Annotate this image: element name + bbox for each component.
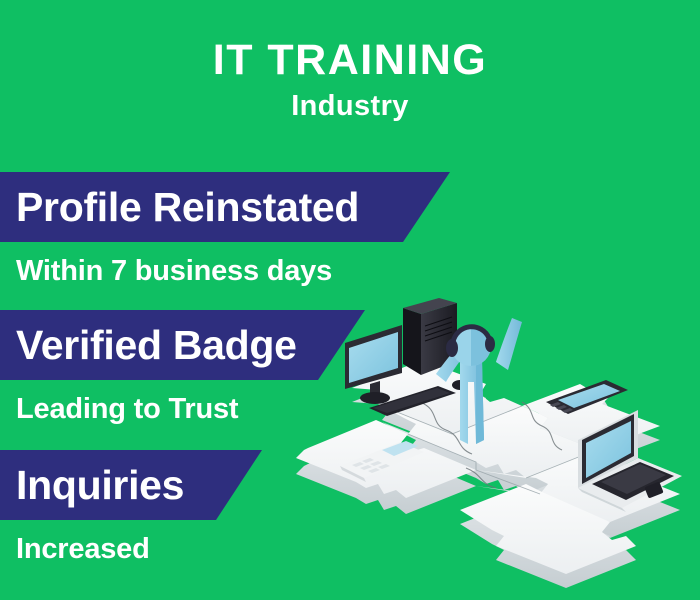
banner-label: Verified Badge xyxy=(16,325,297,366)
highlight-block-inquiries: Inquiries Increased xyxy=(0,450,262,564)
banner-label: Profile Reinstated xyxy=(16,187,359,228)
highlight-block-profile-reinstated: Profile Reinstated Within 7 business day… xyxy=(0,172,450,286)
banner-label: Inquiries xyxy=(16,465,184,506)
banner-inquiries: Inquiries xyxy=(0,450,262,520)
banner-caption: Within 7 business days xyxy=(0,242,450,286)
banner-profile-reinstated: Profile Reinstated xyxy=(0,172,450,242)
page-subtitle: Industry xyxy=(0,91,700,123)
puzzle-platform-devices-illustration xyxy=(290,298,700,588)
banner-caption: Increased xyxy=(0,520,262,564)
page-title: IT TRAINING xyxy=(0,38,700,83)
poster-header: IT TRAINING Industry xyxy=(0,38,700,123)
poster-canvas: IT TRAINING Industry Profile Reinstated … xyxy=(0,0,700,600)
